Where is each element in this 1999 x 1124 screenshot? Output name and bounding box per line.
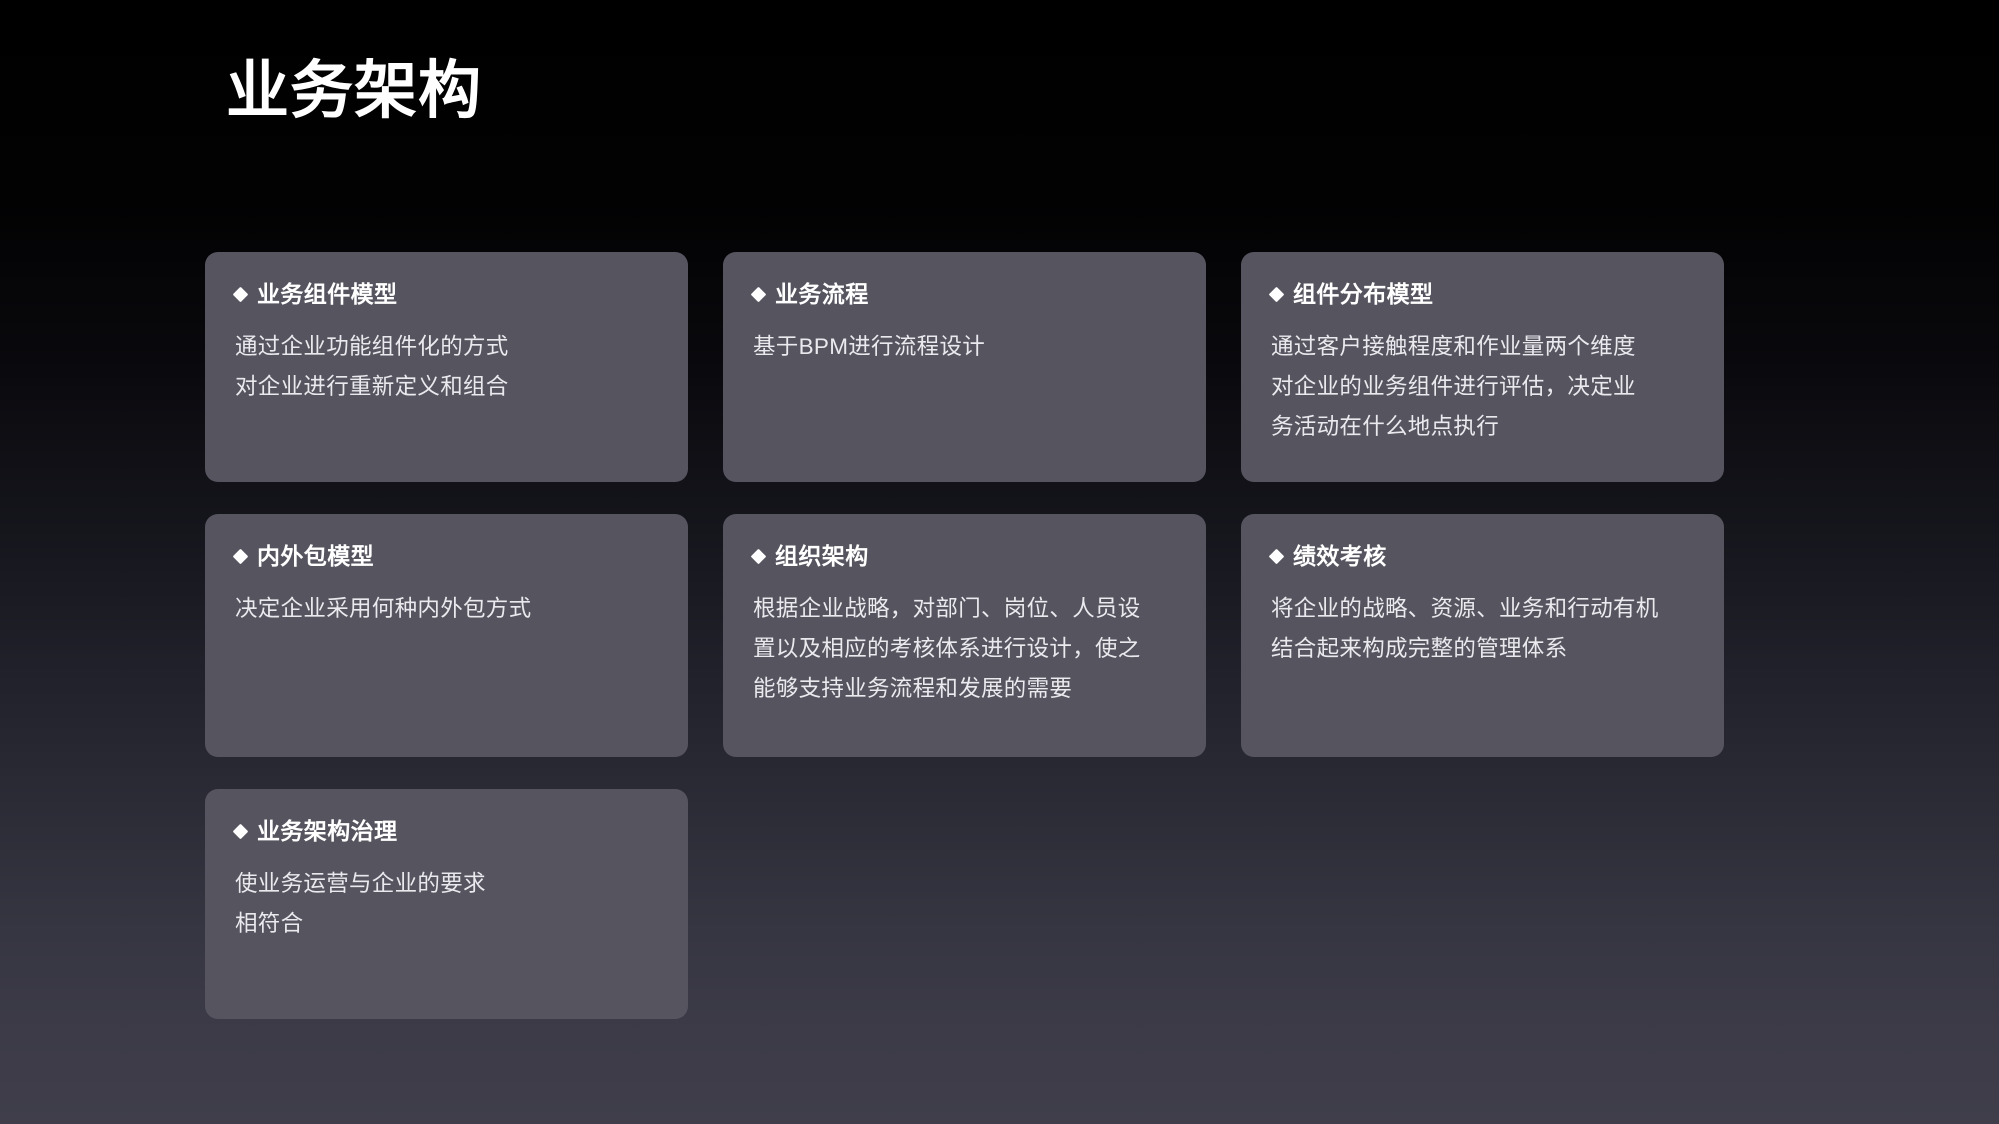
card-title: 组织架构 xyxy=(775,542,869,572)
card-performance-appraisal[interactable]: 绩效考核 将企业的战略、资源、业务和行动有机 结合起来构成完整的管理体系 xyxy=(1241,514,1724,757)
card-header: 绩效考核 xyxy=(1271,542,1694,572)
card-title: 业务组件模型 xyxy=(257,280,397,310)
diamond-bullet-icon xyxy=(751,287,767,303)
card-grid-row: 内外包模型 决定企业采用何种内外包方式 组织架构 根据企业战略，对部门、岗位、人… xyxy=(205,514,1725,757)
card-body: 决定企业采用何种内外包方式 xyxy=(235,589,658,629)
diamond-bullet-icon xyxy=(233,824,249,840)
card-grid-row: 业务组件模型 通过企业功能组件化的方式 对企业进行重新定义和组合 业务流程 基于… xyxy=(205,252,1725,482)
card-organization-structure[interactable]: 组织架构 根据企业战略，对部门、岗位、人员设 置以及相应的考核体系进行设计，使之… xyxy=(723,514,1206,757)
card-header: 业务流程 xyxy=(753,280,1176,310)
card-body: 基于BPM进行流程设计 xyxy=(753,327,1176,367)
card-body: 通过企业功能组件化的方式 对企业进行重新定义和组合 xyxy=(235,327,658,407)
card-body: 通过客户接触程度和作业量两个维度 对企业的业务组件进行评估，决定业 务活动在什么… xyxy=(1271,327,1694,447)
card-grid: 业务组件模型 通过企业功能组件化的方式 对企业进行重新定义和组合 业务流程 基于… xyxy=(205,252,1725,1051)
card-title: 绩效考核 xyxy=(1293,542,1387,572)
card-business-process[interactable]: 业务流程 基于BPM进行流程设计 xyxy=(723,252,1206,482)
card-grid-row: 业务架构治理 使业务运营与企业的要求 相符合 xyxy=(205,789,1725,1019)
card-business-architecture-governance[interactable]: 业务架构治理 使业务运营与企业的要求 相符合 xyxy=(205,789,688,1019)
card-body: 根据企业战略，对部门、岗位、人员设 置以及相应的考核体系进行设计，使之 能够支持… xyxy=(753,589,1176,709)
card-header: 组织架构 xyxy=(753,542,1176,572)
card-header: 业务组件模型 xyxy=(235,280,658,310)
slide-canvas: 业务架构 业务组件模型 通过企业功能组件化的方式 对企业进行重新定义和组合 业务… xyxy=(0,0,1999,1124)
card-title: 业务架构治理 xyxy=(257,817,397,847)
diamond-bullet-icon xyxy=(1269,287,1285,303)
card-header: 内外包模型 xyxy=(235,542,658,572)
card-business-component-model[interactable]: 业务组件模型 通过企业功能组件化的方式 对企业进行重新定义和组合 xyxy=(205,252,688,482)
card-title: 内外包模型 xyxy=(257,542,374,572)
diamond-bullet-icon xyxy=(1269,549,1285,565)
card-title: 业务流程 xyxy=(775,280,869,310)
diamond-bullet-icon xyxy=(751,549,767,565)
card-body: 将企业的战略、资源、业务和行动有机 结合起来构成完整的管理体系 xyxy=(1271,589,1694,669)
card-title: 组件分布模型 xyxy=(1293,280,1433,310)
empty-grid-slot xyxy=(723,789,1206,1019)
card-component-distribution-model[interactable]: 组件分布模型 通过客户接触程度和作业量两个维度 对企业的业务组件进行评估，决定业… xyxy=(1241,252,1724,482)
card-header: 业务架构治理 xyxy=(235,817,658,847)
diamond-bullet-icon xyxy=(233,549,249,565)
diamond-bullet-icon xyxy=(233,287,249,303)
card-body: 使业务运营与企业的要求 相符合 xyxy=(235,864,658,944)
page-title: 业务架构 xyxy=(226,55,482,127)
card-header: 组件分布模型 xyxy=(1271,280,1694,310)
empty-grid-slot xyxy=(1241,789,1724,1019)
card-insourcing-outsourcing-model[interactable]: 内外包模型 决定企业采用何种内外包方式 xyxy=(205,514,688,757)
